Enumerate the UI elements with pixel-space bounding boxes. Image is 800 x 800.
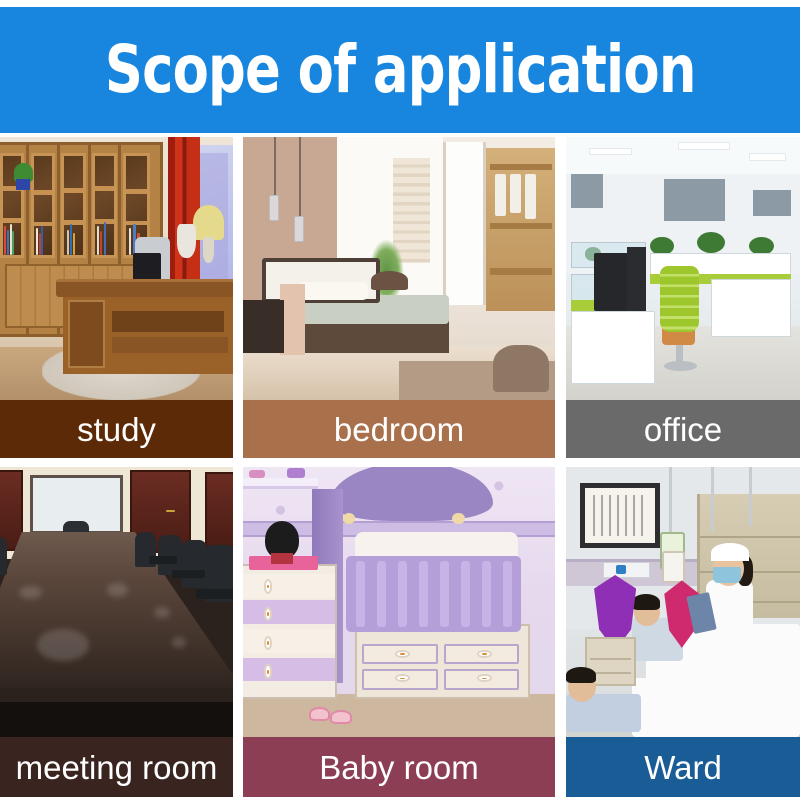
scene-card-study[interactable]: study (0, 137, 233, 458)
photo-office (566, 137, 800, 400)
photo-meeting-room (0, 467, 233, 737)
scope-of-application-poster: Scope of application (0, 0, 800, 800)
scene-label-bar-meeting-room: meeting room (0, 737, 233, 797)
photo-study (0, 137, 233, 400)
scene-label-bar-office: office (566, 400, 800, 458)
application-scenes-grid: study (0, 137, 800, 797)
page-title: Scope of application (105, 37, 696, 103)
scene-label-bar-bedroom: bedroom (243, 400, 555, 458)
scene-label-office: office (644, 413, 722, 446)
grid-row-gap (0, 458, 800, 467)
scene-label-bar-study: study (0, 400, 233, 458)
photo-bedroom (243, 137, 555, 400)
scene-label-bar-ward: Ward (566, 737, 800, 797)
header-banner: Scope of application (0, 7, 800, 133)
scene-label-bedroom: bedroom (334, 413, 464, 446)
scene-label-ward: Ward (644, 751, 722, 784)
scene-card-baby-room[interactable]: Baby room (243, 467, 555, 797)
photo-baby-room (243, 467, 555, 737)
scene-card-meeting-room[interactable]: meeting room (0, 467, 233, 797)
scene-card-bedroom[interactable]: bedroom (243, 137, 555, 458)
scene-label-bar-baby-room: Baby room (243, 737, 555, 797)
scene-label-study: study (77, 413, 156, 446)
scene-label-meeting-room: meeting room (16, 751, 218, 784)
scene-label-baby-room: Baby room (319, 751, 479, 784)
scene-card-ward[interactable]: Ward (566, 467, 800, 797)
scene-card-office[interactable]: office (566, 137, 800, 458)
photo-ward (566, 467, 800, 737)
